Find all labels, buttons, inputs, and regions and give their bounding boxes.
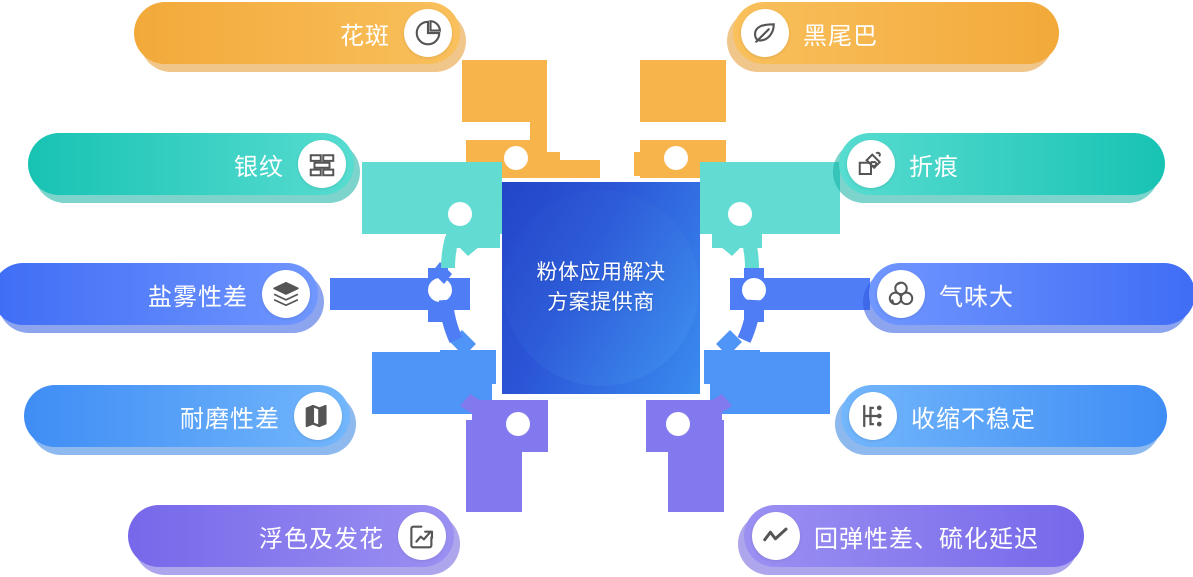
node-5[interactable]: 盐雾性差 — [0, 263, 318, 325]
map-icon — [294, 392, 342, 440]
node-7[interactable]: 耐磨性差 — [24, 385, 350, 447]
node-label-4: 折痕 — [895, 147, 973, 182]
spoke-teal-right — [700, 162, 840, 256]
node-label-5: 盐雾性差 — [134, 277, 262, 312]
node-label-8: 收缩不稳定 — [897, 399, 1050, 434]
node-3[interactable]: 银纹 — [28, 133, 354, 195]
recycle-icon — [877, 270, 925, 318]
node-label-9: 浮色及发花 — [245, 519, 398, 554]
layers-icon — [262, 270, 310, 318]
node-label-7: 耐磨性差 — [166, 399, 294, 434]
center-hub[interactable]: 粉体应用解决 方案提供商 — [502, 182, 700, 394]
node-9[interactable]: 浮色及发花 — [128, 505, 454, 567]
diagram-canvas: 粉体应用解决 方案提供商 花斑 黑尾巴 — [0, 0, 1193, 577]
center-hub-label: 粉体应用解决 方案提供商 — [511, 258, 691, 318]
node-1[interactable]: 花斑 — [134, 2, 460, 64]
node-label-10: 回弹性差、硫化延迟 — [800, 519, 1053, 554]
node-label-1: 花斑 — [326, 16, 404, 51]
node-label-6: 气味大 — [925, 277, 1028, 312]
node-label-3: 银纹 — [220, 147, 298, 182]
spoke-purple-right — [646, 394, 732, 512]
sitemap-icon — [849, 392, 897, 440]
spoke-purple-left — [460, 394, 548, 512]
node-10[interactable]: 回弹性差、硫化延迟 — [744, 505, 1084, 567]
pie-chart-icon — [404, 9, 452, 57]
node-label-2: 黑尾巴 — [789, 16, 892, 51]
spoke-teal-left — [362, 162, 502, 256]
node-4[interactable]: 折痕 — [839, 133, 1165, 195]
trending-up-box-icon — [398, 512, 446, 560]
node-8[interactable]: 收缩不稳定 — [841, 385, 1167, 447]
brick-wall-icon — [298, 140, 346, 188]
leaf-icon — [741, 9, 789, 57]
node-2[interactable]: 黑尾巴 — [733, 2, 1059, 64]
puzzle-piece-icon — [847, 140, 895, 188]
line-chart-icon — [752, 512, 800, 560]
node-6[interactable]: 气味大 — [869, 263, 1193, 325]
